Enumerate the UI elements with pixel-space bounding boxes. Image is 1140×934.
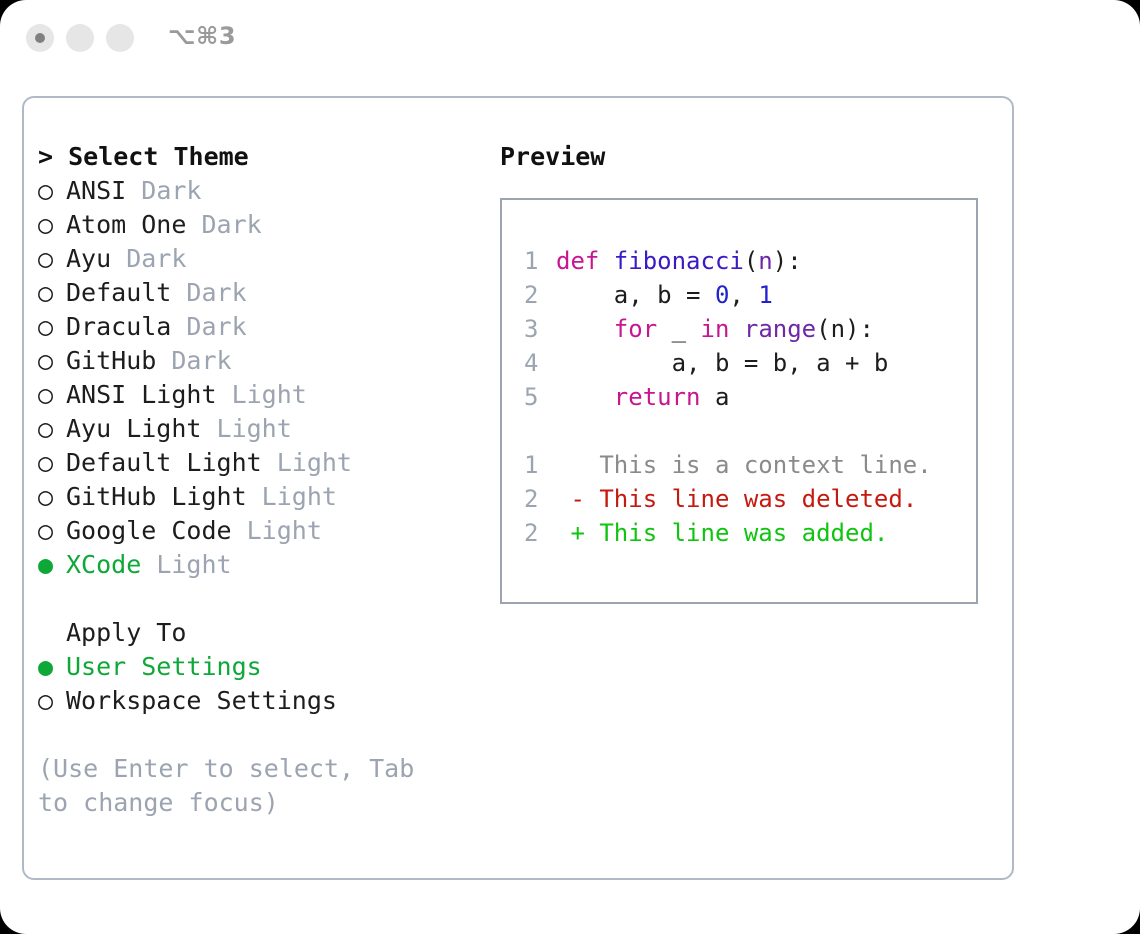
code-token: 0	[715, 281, 729, 309]
theme-option-row[interactable]: ○Ayu Light Light	[38, 412, 498, 446]
line-number: 1	[524, 244, 556, 278]
diff-line: 2 - This line was deleted.	[502, 482, 976, 516]
preview-column: Preview 1def fibonacci(n):2 a, b = 0, 13…	[500, 140, 1000, 604]
theme-option-row[interactable]: ○GitHub Light Light	[38, 480, 498, 514]
theme-variant-badge: Dark	[171, 278, 246, 307]
theme-variant-badge: Light	[262, 448, 352, 477]
code-token: a, b = b, a + b	[556, 349, 888, 377]
code-token: fibonacci	[614, 247, 744, 275]
theme-option-name: Ayu	[66, 244, 111, 273]
line-number: 5	[524, 380, 556, 414]
code-line: 1def fibonacci(n):	[502, 244, 976, 278]
code-line: 3 for _ in range(n):	[502, 312, 976, 346]
theme-variant-badge: Dark	[126, 176, 201, 205]
theme-selector-panel: > Select Theme ○ANSI Dark○Atom One Dark○…	[22, 96, 1014, 880]
theme-option-row[interactable]: ○ANSI Light Light	[38, 378, 498, 412]
diff-marker: -	[556, 485, 585, 513]
diff-sample: 1 This is a context line.2 - This line w…	[502, 448, 976, 550]
window-titlebar: ⌥⌘3	[0, 0, 1140, 78]
code-token: (	[744, 247, 758, 275]
code-token: (n):	[816, 315, 874, 343]
radio-unselected-icon[interactable]: ○	[38, 310, 66, 344]
theme-option-row[interactable]: ○Dracula Dark	[38, 310, 498, 344]
theme-option-name: GitHub	[66, 346, 156, 375]
radio-unselected-icon[interactable]: ○	[38, 684, 66, 718]
theme-option-name: ANSI Light	[66, 380, 217, 409]
theme-option-row[interactable]: ○Ayu Dark	[38, 242, 498, 276]
preview-title: Preview	[500, 140, 1000, 174]
select-theme-header: > Select Theme	[38, 140, 498, 174]
theme-option-row[interactable]: ○Default Light Light	[38, 446, 498, 480]
theme-variant-badge: Light	[247, 482, 337, 511]
traffic-light-second-icon[interactable]	[66, 24, 94, 52]
apply-to-option-row[interactable]: ●User Settings	[38, 650, 498, 684]
radio-unselected-icon[interactable]: ○	[38, 514, 66, 548]
code-token: ,	[729, 281, 758, 309]
line-number: 1	[524, 448, 556, 482]
theme-option-name: Default Light	[66, 448, 262, 477]
line-number: 2	[524, 482, 556, 516]
diff-text: This is a context line.	[585, 451, 932, 479]
keyboard-hint-text: (Use Enter to select, Tab to change focu…	[38, 752, 458, 820]
radio-unselected-icon[interactable]: ○	[38, 480, 66, 514]
theme-option-row[interactable]: ○Default Dark	[38, 276, 498, 310]
theme-option-name: Ayu Light	[66, 414, 201, 443]
theme-variant-badge: Dark	[186, 210, 261, 239]
theme-option-row[interactable]: ○GitHub Dark	[38, 344, 498, 378]
diff-marker	[556, 451, 585, 479]
apply-to-list: ●User Settings○Workspace Settings	[38, 650, 498, 718]
theme-list: ○ANSI Dark○Atom One Dark○Ayu Dark○Defaul…	[38, 174, 498, 582]
code-token: ):	[773, 247, 802, 275]
traffic-light-active-icon[interactable]	[26, 24, 54, 52]
theme-option-name: GitHub Light	[66, 482, 247, 511]
code-token: range	[744, 315, 816, 343]
line-number: 2	[524, 516, 556, 550]
list-spacer	[38, 582, 498, 616]
theme-variant-badge: Dark	[111, 244, 186, 273]
code-token: 1	[758, 281, 772, 309]
theme-option-row[interactable]: ○ANSI Dark	[38, 174, 498, 208]
theme-variant-badge: Light	[141, 550, 231, 579]
diff-marker: +	[556, 519, 585, 547]
terminal-window: ⌥⌘3 > Select Theme ○ANSI Dark○Atom One D…	[0, 0, 1140, 934]
code-token: a	[701, 383, 730, 411]
diff-text: This line was deleted.	[585, 485, 917, 513]
radio-selected-icon[interactable]: ●	[38, 548, 66, 582]
theme-list-column: > Select Theme ○ANSI Dark○Atom One Dark○…	[38, 140, 498, 820]
code-token: for	[614, 315, 657, 343]
theme-variant-badge: Light	[217, 380, 307, 409]
theme-option-name: Google Code	[66, 516, 232, 545]
theme-option-name: Dracula	[66, 312, 171, 341]
theme-option-name: Atom One	[66, 210, 186, 239]
theme-variant-badge: Light	[232, 516, 322, 545]
theme-option-name: Default	[66, 278, 171, 307]
radio-unselected-icon[interactable]: ○	[38, 174, 66, 208]
traffic-light-dot-inner	[35, 33, 45, 43]
keyboard-shortcut-label: ⌥⌘3	[168, 22, 236, 50]
theme-option-row[interactable]: ●XCode Light	[38, 548, 498, 582]
radio-unselected-icon[interactable]: ○	[38, 276, 66, 310]
code-line: 2 a, b = 0, 1	[502, 278, 976, 312]
theme-variant-badge: Dark	[156, 346, 231, 375]
code-token: return	[614, 383, 701, 411]
radio-unselected-icon[interactable]: ○	[38, 378, 66, 412]
theme-variant-badge: Light	[201, 414, 291, 443]
radio-unselected-icon[interactable]: ○	[38, 208, 66, 242]
radio-unselected-icon[interactable]: ○	[38, 446, 66, 480]
traffic-light-third-icon[interactable]	[106, 24, 134, 52]
theme-option-name: ANSI	[66, 176, 126, 205]
code-token: in	[701, 315, 730, 343]
code-preview-box: 1def fibonacci(n):2 a, b = 0, 13 for _ i…	[500, 198, 978, 604]
line-number: 3	[524, 312, 556, 346]
theme-variant-badge: Dark	[171, 312, 246, 341]
code-token	[729, 315, 743, 343]
code-token	[556, 383, 614, 411]
theme-option-name: XCode	[66, 550, 141, 579]
code-line: 4 a, b = b, a + b	[502, 346, 976, 380]
code-token: n	[758, 247, 772, 275]
radio-selected-icon[interactable]: ●	[38, 650, 66, 684]
radio-unselected-icon[interactable]: ○	[38, 412, 66, 446]
theme-option-row[interactable]: ○Atom One Dark	[38, 208, 498, 242]
apply-to-label: Apply To	[38, 616, 498, 650]
diff-line: 2 + This line was added.	[502, 516, 976, 550]
code-diff-spacer	[502, 414, 976, 448]
apply-to-option-name: Workspace Settings	[66, 686, 337, 715]
code-token	[556, 315, 614, 343]
theme-option-row[interactable]: ○Google Code Light	[38, 514, 498, 548]
radio-unselected-icon[interactable]: ○	[38, 344, 66, 378]
diff-line: 1 This is a context line.	[502, 448, 976, 482]
apply-to-option-name: User Settings	[66, 652, 262, 681]
radio-unselected-icon[interactable]: ○	[38, 242, 66, 276]
code-line: 5 return a	[502, 380, 976, 414]
code-token: def	[556, 247, 614, 275]
code-token: _	[657, 315, 700, 343]
line-number: 4	[524, 346, 556, 380]
apply-to-option-row[interactable]: ○Workspace Settings	[38, 684, 498, 718]
code-sample: 1def fibonacci(n):2 a, b = 0, 13 for _ i…	[502, 244, 976, 414]
code-token: a, b =	[556, 281, 715, 309]
line-number: 2	[524, 278, 556, 312]
diff-text: This line was added.	[585, 519, 888, 547]
